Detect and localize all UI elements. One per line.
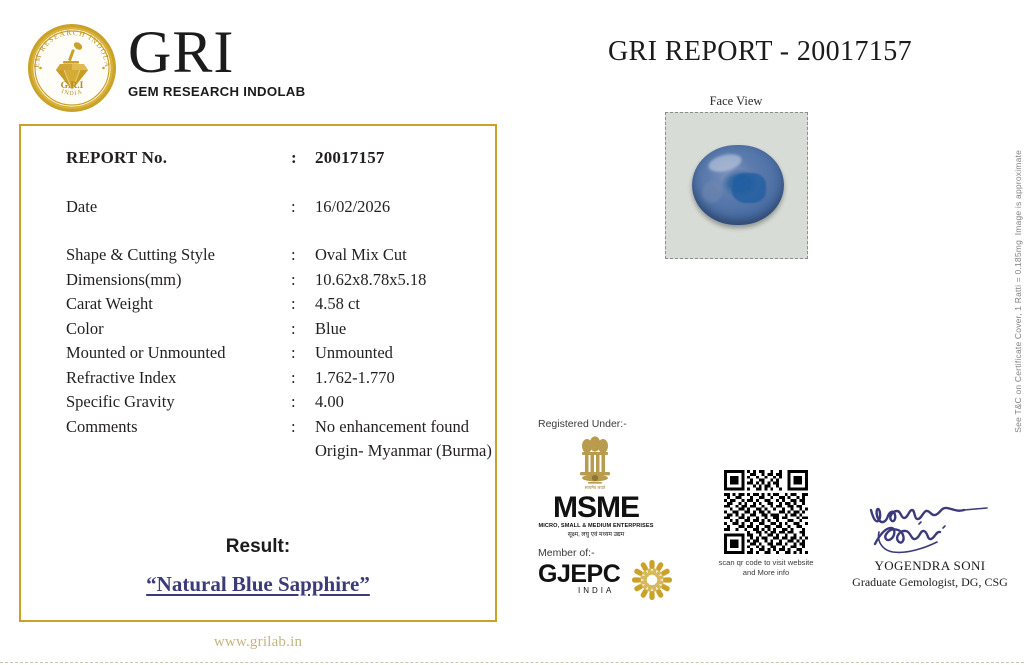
row-spacer [66,171,486,195]
ashoka-emblem-icon: सत्यमेव जयते [572,436,618,492]
qr-caption-line2: and More info [743,568,789,577]
face-view-caption: Face View [660,94,812,109]
row-separator: : [291,317,296,342]
result-value: “Natural Blue Sapphire” [21,572,495,597]
signatory-name: YOGENDRA SONI [845,558,1015,574]
row-separator: : [291,292,296,317]
row-value: 20017157 [315,146,385,171]
result-label: Result: [21,536,495,558]
row-value: 4.58 ct [315,292,360,317]
handwritten-signature-icon [865,498,995,560]
brand-name: GRI [128,22,328,82]
row-separator: : [291,415,296,440]
qr-code-icon[interactable] [724,470,808,554]
gemstone-image [692,145,784,225]
qr-caption: scan qr code to visit website and More i… [706,558,826,577]
table-row: Shape & Cutting Style : Oval Mix Cut [66,243,486,268]
row-label: Mounted or Unmounted [66,341,225,366]
row-label: Specific Gravity [66,390,175,415]
qr-block: scan qr code to visit website and More i… [706,470,826,577]
row-label: Shape & Cutting Style [66,243,215,268]
gem-highlight [707,151,744,175]
table-row-report-no: REPORT No. : 20017157 [66,146,486,171]
signatory-title: Graduate Gemologist, DG, CSG [845,575,1015,590]
msme-subtitle: MICRO, SMALL & MEDIUM ENTERPRISES [538,523,654,529]
row-value: Oval Mix Cut [315,243,407,268]
row-label: Date [66,195,97,220]
table-row: Mounted or Unmounted : Unmounted [66,341,486,366]
brand-tagline: GEM RESEARCH INDOLAB [128,84,328,99]
row-separator: : [291,146,297,171]
msme-wordmark: MSME [548,493,644,523]
row-label: Carat Weight [66,292,153,317]
certificate-page: GEM RESEARCH INDOLAB INDIA [0,0,1024,665]
row-value: 1.762-1.770 [315,366,395,391]
qr-caption-line1: scan qr code to visit website [719,558,814,567]
terms-side-note: See T&C on Certificate Cover, 1 Ratti = … [1013,240,1023,433]
gjepc-subtitle: INDIA [578,586,614,595]
report-details-table: REPORT No. : 20017157 Date : 16/02/2026 … [66,146,486,464]
row-value: Origin- Myanmar (Burma) [315,439,492,464]
row-separator: : [291,390,296,415]
report-details-box: REPORT No. : 20017157 Date : 16/02/2026 … [19,124,497,622]
image-approx-side-note: Image is approximate [1013,150,1023,235]
row-label: Refractive Index [66,366,176,391]
table-row: Color : Blue [66,317,486,342]
bottom-divider [0,662,1024,663]
row-separator: : [291,268,296,293]
row-value: 16/02/2026 [315,195,390,220]
table-row-continuation: Origin- Myanmar (Burma) [66,439,486,464]
row-value: 4.00 [315,390,344,415]
row-value: Unmounted [315,341,393,366]
gjepc-logo: GJEPC INDIA [538,561,688,603]
row-separator: : [291,243,296,268]
row-separator: : [291,366,296,391]
gem-table-facet [732,173,766,203]
gri-seal-icon: GEM RESEARCH INDOLAB INDIA [26,22,118,114]
table-row: Specific Gravity : 4.00 [66,390,486,415]
brand-logo-block: GEM RESEARCH INDOLAB INDIA [20,18,320,114]
result-section: Result: “Natural Blue Sapphire” [21,536,495,597]
row-label: Color [66,317,104,342]
gjepc-sunburst-icon [630,558,674,602]
row-separator: : [291,195,296,220]
gjepc-wordmark: GJEPC [538,561,620,587]
signature-block: YOGENDRA SONI Graduate Gemologist, DG, C… [845,498,1015,590]
table-row: Dimensions(mm) : 10.62x8.78x5.18 [66,268,486,293]
row-separator: : [291,341,296,366]
svg-text:G.R.I: G.R.I [61,81,84,91]
brand-text: GRI GEM RESEARCH INDOLAB [128,22,328,99]
accreditation-block: Registered Under:- सत्यमेव जय [538,418,688,603]
row-value: No enhancement found [315,415,469,440]
svg-text:सत्यमेव जयते: सत्यमेव जयते [585,485,606,490]
row-label: REPORT No. [66,146,167,171]
table-row: Carat Weight : 4.58 ct [66,292,486,317]
row-label: Comments [66,415,138,440]
gem-side-facet [702,181,722,203]
table-row-date: Date : 16/02/2026 [66,195,486,220]
table-row: Comments : No enhancement found [66,415,486,440]
row-value: 10.62x8.78x5.18 [315,268,426,293]
registered-under-label: Registered Under:- [538,418,688,430]
table-row: Refractive Index : 1.762-1.770 [66,366,486,391]
website-link[interactable]: www.grilab.in [19,634,497,651]
gem-photo [665,112,808,259]
msme-subtitle-hindi: सूक्ष्म, लघु एवं मध्यम उद्यम [538,530,654,538]
row-value: Blue [315,317,346,342]
page-title: GRI REPORT - 20017157 [530,36,990,68]
row-label: Dimensions(mm) [66,268,182,293]
row-spacer [66,219,486,243]
